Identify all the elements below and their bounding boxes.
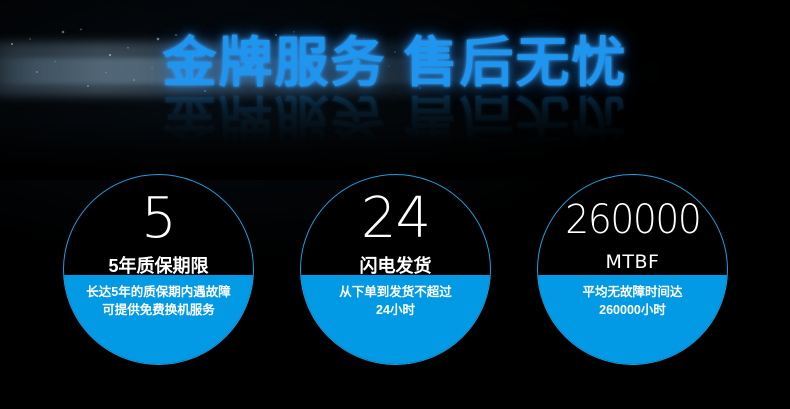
feature-circle-list: 5 5年质保期限 长达5年的质保期内遇故障 可提供免费换机服务 24 闪电发货 … <box>0 174 790 370</box>
feature-number: 24 <box>361 191 430 247</box>
feature-subtitle: MTBF <box>606 253 660 272</box>
feature-description: 从下单到发货不超过 24小时 <box>309 283 482 319</box>
feature-description-line-2: 24小时 <box>309 301 482 319</box>
feature-content: 5 5年质保期限 <box>64 175 253 364</box>
background-fade <box>0 120 790 180</box>
feature-subtitle: 闪电发货 <box>360 257 432 275</box>
feature-number: 260000 <box>565 200 700 240</box>
feature-subtitle: 5年质保期限 <box>108 257 208 275</box>
page-title-reflection: 金牌服务 售后无忧 <box>162 92 627 146</box>
feature-description-line-1: 平均无故障时间达 <box>546 283 719 301</box>
feature-description-line-2: 260000小时 <box>546 301 719 319</box>
headline-reflection-container: 金牌服务 售后无忧 <box>0 92 790 146</box>
feature-circle-warranty: 5 5年质保期限 长达5年的质保期内遇故障 可提供免费换机服务 <box>63 174 254 365</box>
feature-description: 长达5年的质保期内遇故障 可提供免费换机服务 <box>72 283 245 319</box>
headline-container: 金牌服务 售后无忧 <box>0 36 790 90</box>
feature-description-line-1: 长达5年的质保期内遇故障 <box>72 283 245 301</box>
feature-circle-shipping: 24 闪电发货 从下单到发货不超过 24小时 <box>300 174 491 365</box>
page-title: 金牌服务 售后无忧 <box>162 36 627 90</box>
feature-circle-mtbf: 260000 MTBF 平均无故障时间达 260000小时 <box>537 174 728 365</box>
feature-content: 260000 MTBF <box>538 175 727 364</box>
service-promo-banner: 金牌服务 售后无忧 金牌服务 售后无忧 5 5年质保期限 长达5年的质保期内遇故… <box>0 0 790 409</box>
feature-number: 5 <box>141 191 176 247</box>
feature-description-line-2: 可提供免费换机服务 <box>72 301 245 319</box>
feature-description-line-1: 从下单到发货不超过 <box>309 283 482 301</box>
feature-content: 24 闪电发货 <box>301 175 490 364</box>
feature-description: 平均无故障时间达 260000小时 <box>546 283 719 319</box>
